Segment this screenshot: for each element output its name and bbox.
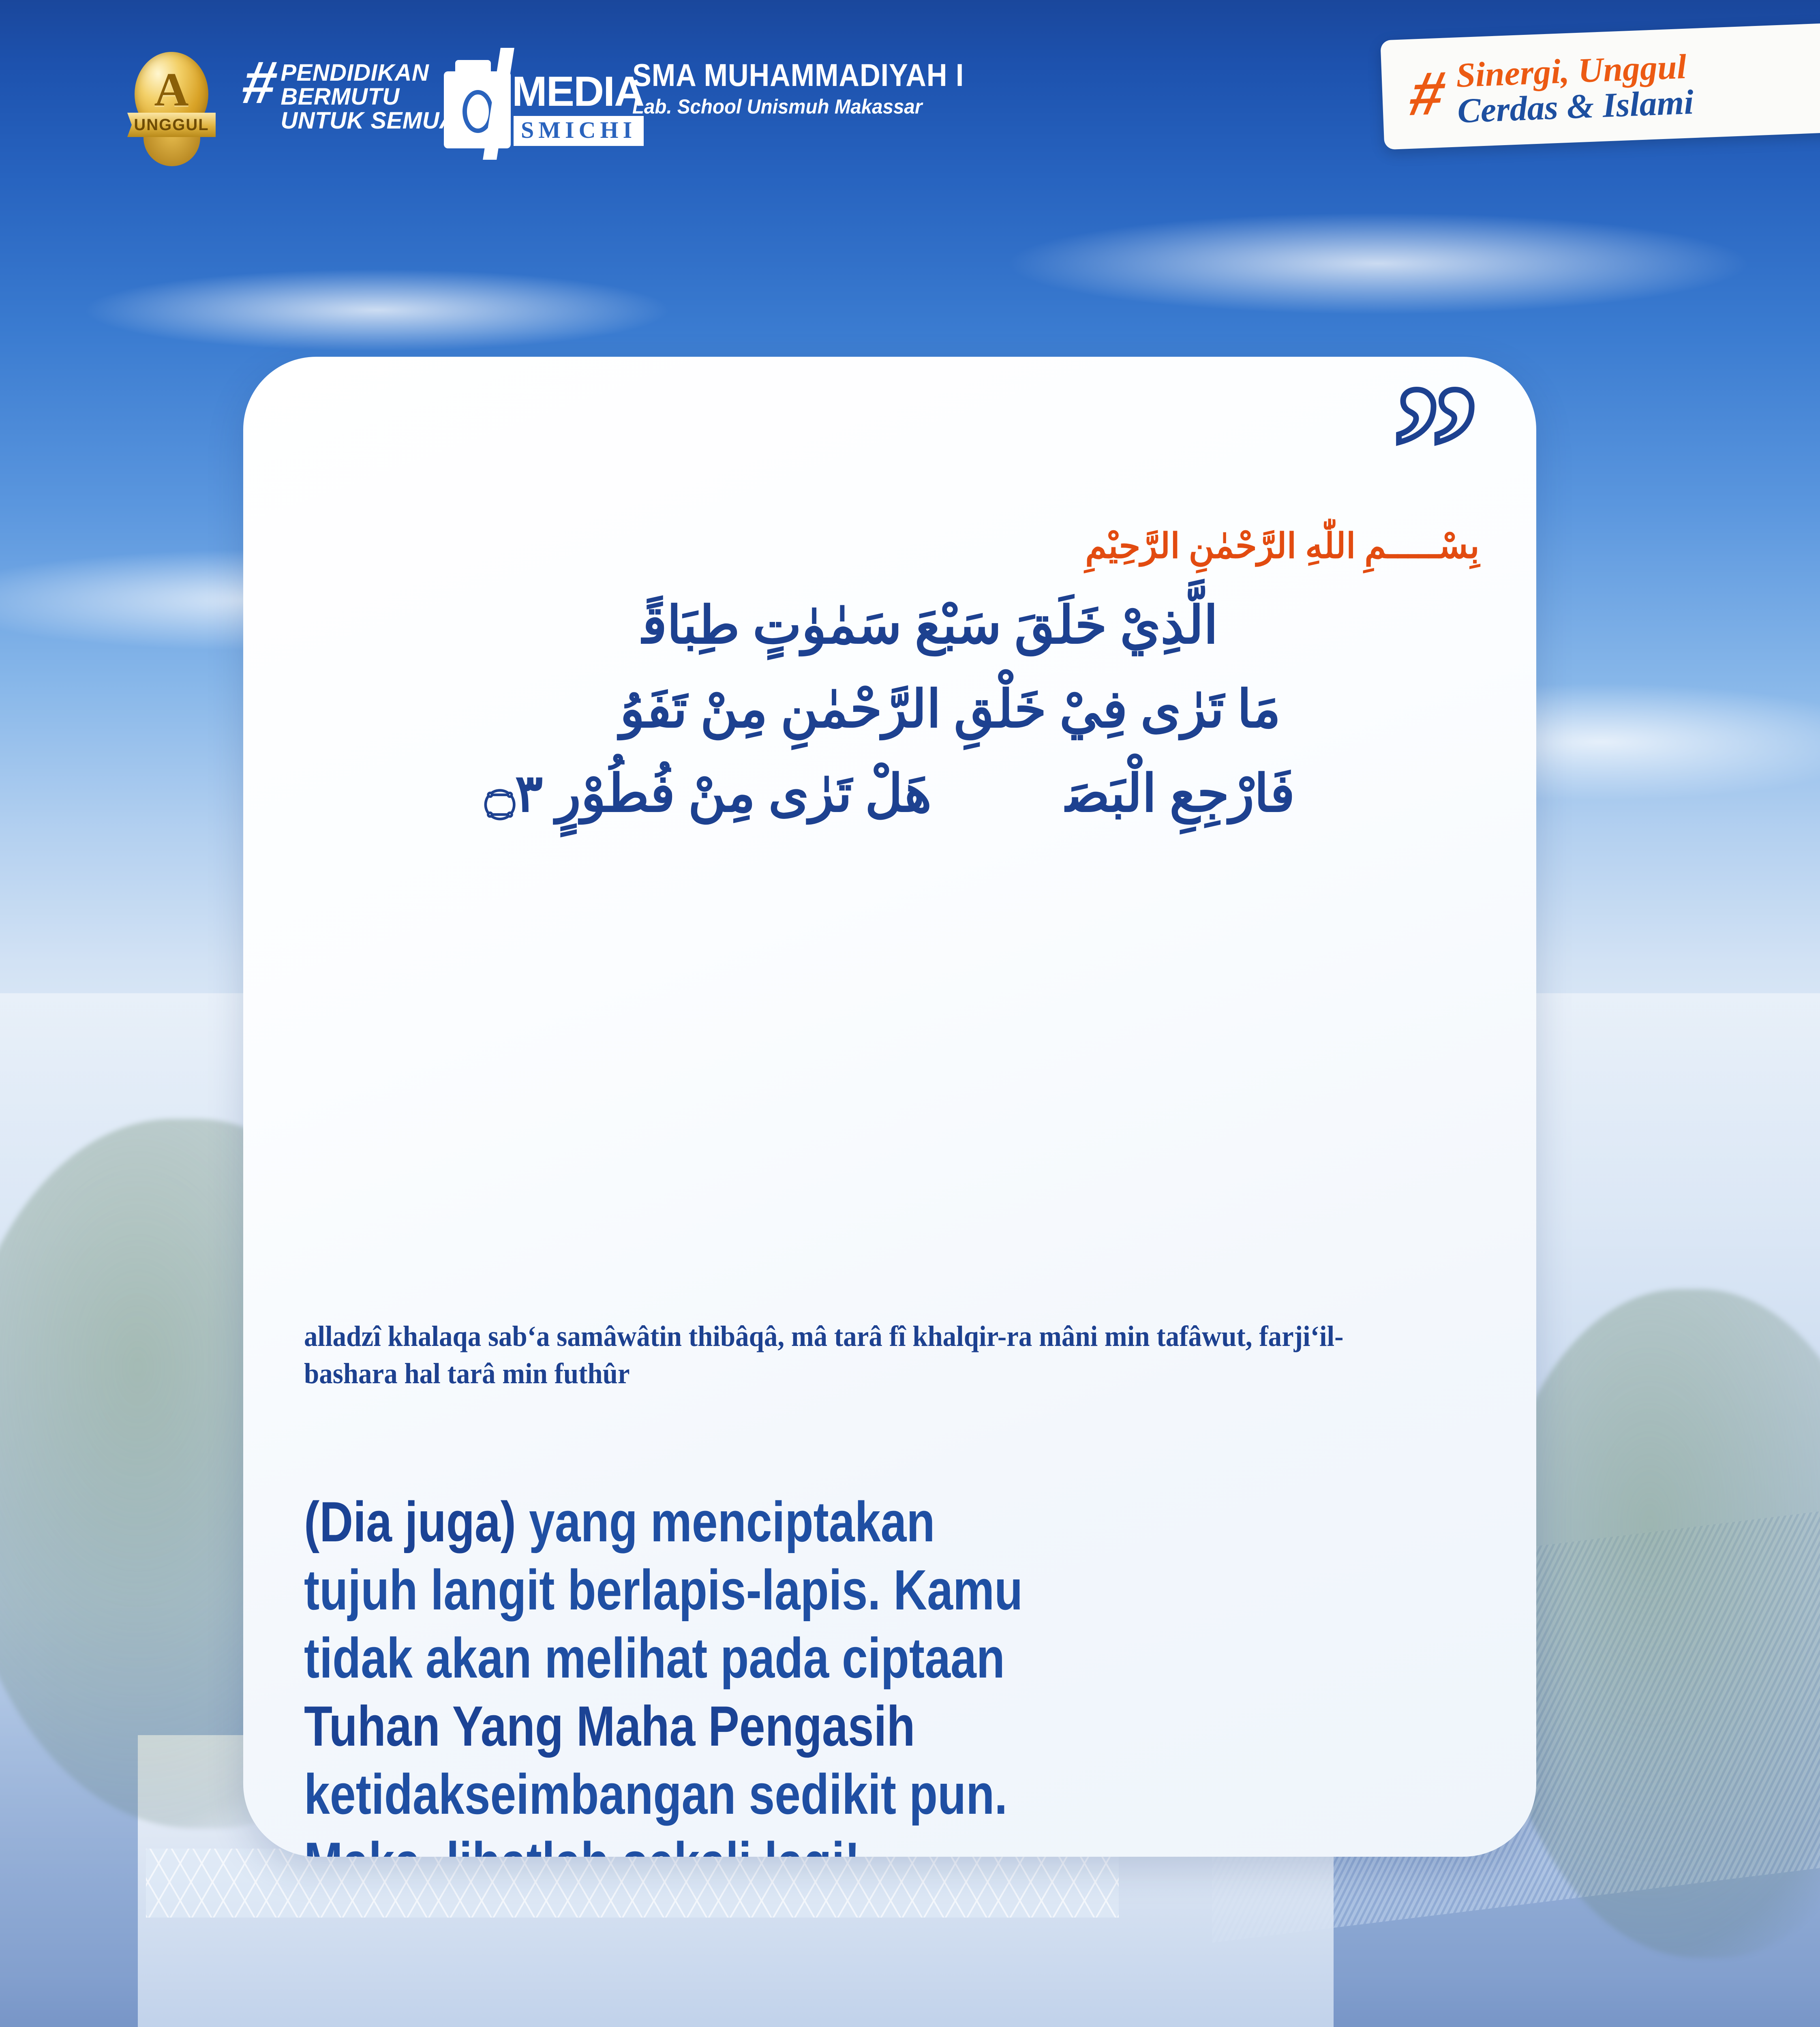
smichi-wordmark: SMICHI [514, 116, 644, 146]
translation-line-6: Maka, lihatlah sekali lagi! [304, 1828, 1188, 1857]
transliteration-text: alladzî khalaqa sab‘a samâwâtin thibâqâ,… [304, 1318, 1394, 1392]
indonesian-translation: (Dia juga) yang menciptakan tujuh langit… [304, 1488, 1382, 1857]
slogan-line-3: UNTUK SEMUA [280, 109, 456, 133]
translation-line-5: ketidakseimbangan sedikit pun. [304, 1760, 1188, 1828]
translation-line-3: tidak akan melihat pada ciptaan [304, 1624, 1188, 1692]
arabic-line-1: الَّذِيْ خَلَقَ سَبْعَ سَمٰوٰتٍ طِبَاقًا… [243, 584, 1536, 668]
unggul-award-badge: A UNGGUL [129, 52, 214, 153]
school-subtitle: Lab. School Unismuh Makassar [632, 96, 983, 117]
translation-line-2: tujuh langit berlapis-lapis. Kamu [304, 1556, 1188, 1624]
tagline-hash-icon: # [1405, 62, 1449, 124]
school-name: SMA MUHAMMADIYAH I [632, 59, 964, 91]
badge-ribbon-label: UNGGUL [134, 117, 209, 133]
media-smichi-logo: MEDIA SMICHI [444, 48, 614, 157]
arabic-line-2: مَا تَرٰى فِيْ خَلْقِ الرَّحْمٰنِ مِنْ ت… [243, 668, 1536, 752]
tagline-badge: # Sinergi, Unggul Cerdas & Islami [1380, 23, 1820, 150]
media-wordmark: MEDIA [512, 71, 644, 113]
arabic-verse: الَّذِيْ خَلَقَ سَبْعَ سَمٰوٰتٍ طِبَاقًا… [243, 584, 1536, 836]
hash-icon: # [239, 57, 279, 108]
verse-card: ” بِسْـــــمِ اللّٰهِ الرَّحْمٰنِ الرَّح… [243, 357, 1536, 1857]
poster-canvas: A UNGGUL # PENDIDIKAN BERMUTU UNTUK SEMU… [0, 0, 1820, 2027]
hashtag-slogan: # PENDIDIKAN BERMUTU UNTUK SEMUA [243, 57, 456, 133]
translation-emphasis: (Dia juga) [304, 1490, 516, 1553]
tagline-line-2: Cerdas & Islami [1457, 84, 1694, 129]
school-identity: SMA MUHAMMADIYAH I Lab. School Unismuh M… [632, 59, 1001, 117]
quotation-mark-icon: ” [1392, 393, 1475, 501]
translation-line-4: Tuhan Yang Maha Pengasih [304, 1692, 1188, 1760]
header: A UNGGUL # PENDIDIKAN BERMUTU UNTUK SEMU… [0, 0, 1820, 170]
slogan-line-2: BERMUTU [280, 85, 456, 109]
arabic-line-3: فَارْجِعِ الْبَصَرَۖ هَلْ تَرٰى مِنْ فُط… [243, 752, 1536, 836]
badge-letter: A [129, 66, 214, 114]
translation-line-1: (Dia juga) yang menciptakan [304, 1488, 1188, 1556]
slogan-line-1: PENDIDIKAN [280, 61, 456, 85]
basmala-text: بِسْـــــمِ اللّٰهِ الرَّحْمٰنِ الرَّحِي… [1085, 527, 1480, 566]
